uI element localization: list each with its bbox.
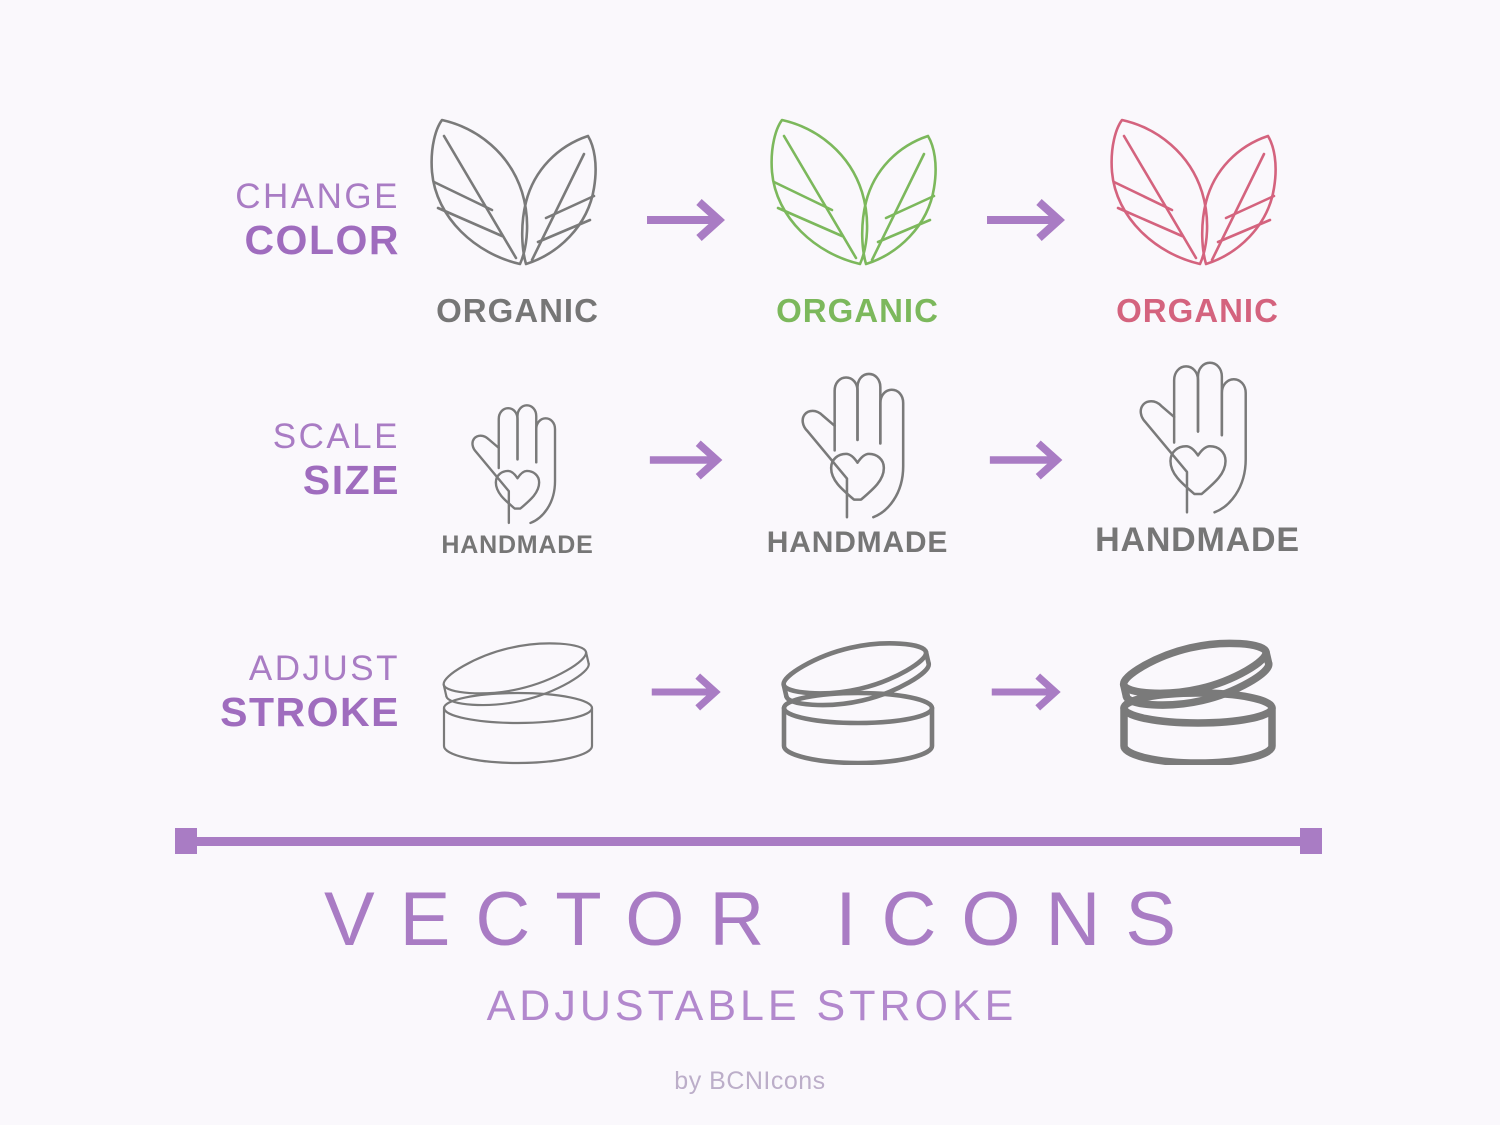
row-steps: HANDMADE	[410, 360, 1500, 560]
row-steps	[410, 612, 1500, 772]
icon-step-leaf-pink[interactable]: ORGANIC	[1090, 110, 1305, 330]
cosmetic-jar-icon	[423, 620, 613, 765]
leaf-icon	[758, 114, 958, 286]
byline: by BCNIcons	[0, 1067, 1500, 1096]
icon-step-hand-medium[interactable]: HANDMADE	[750, 360, 965, 560]
row-label-top: ADJUST	[0, 651, 400, 686]
leaf-icon	[1098, 114, 1298, 286]
arrow-right-icon	[990, 670, 1066, 714]
poster-canvas: CHANGE COLOR ORGA	[0, 0, 1500, 1125]
arrow-1	[625, 110, 750, 330]
page-subtitle: ADJUSTABLE STROKE	[4, 982, 1500, 1031]
icon-caption: ORGANIC	[436, 292, 599, 330]
arrow-right-icon	[648, 437, 728, 483]
arrow-1	[625, 360, 750, 560]
row-label-top: SCALE	[0, 419, 400, 454]
cosmetic-jar-icon	[1103, 620, 1293, 765]
arrow-2	[965, 360, 1090, 560]
icon-caption: ORGANIC	[776, 292, 939, 330]
footer: VECTOR ICONS ADJUSTABLE STROKE by BCNIco…	[0, 880, 1500, 1096]
arrow-right-icon	[650, 670, 726, 714]
icon-caption: HANDMADE	[767, 526, 948, 560]
arrow-right-icon	[985, 196, 1071, 244]
divider-line	[187, 837, 1310, 846]
arrow-2	[965, 612, 1090, 772]
row-label-change-color: CHANGE COLOR	[0, 179, 410, 261]
arrow-right-icon	[645, 196, 731, 244]
arrow-right-icon	[988, 437, 1068, 483]
row-label-bottom: COLOR	[0, 220, 400, 261]
divider-bar	[175, 828, 1322, 854]
icon-step-hand-small[interactable]: HANDMADE	[410, 360, 625, 560]
arrow-1	[625, 612, 750, 772]
icon-step-leaf-gray[interactable]: ORGANIC	[410, 110, 625, 330]
hand-heart-icon	[796, 371, 919, 521]
page-title: VECTOR ICONS	[25, 880, 1500, 960]
icon-caption: ORGANIC	[1116, 292, 1279, 330]
icon-caption: HANDMADE	[1095, 521, 1300, 560]
cosmetic-jar-icon	[763, 620, 953, 765]
row-label-bottom: SIZE	[0, 460, 400, 501]
icon-step-jar-thick[interactable]	[1090, 612, 1305, 772]
row-adjust-stroke: ADJUST STROKE	[0, 612, 1500, 772]
leaf-icon	[418, 114, 618, 286]
hand-heart-icon	[467, 403, 568, 526]
divider-cap-right	[1300, 828, 1322, 854]
icon-step-jar-thin[interactable]	[410, 612, 625, 772]
row-change-color: CHANGE COLOR ORGA	[0, 110, 1500, 330]
row-label-adjust-stroke: ADJUST STROKE	[0, 651, 410, 733]
icon-step-leaf-green[interactable]: ORGANIC	[750, 110, 965, 330]
icon-step-hand-large[interactable]: HANDMADE	[1090, 360, 1305, 560]
row-label-bottom: STROKE	[0, 692, 400, 733]
row-label-top: CHANGE	[0, 179, 400, 214]
row-label-scale-size: SCALE SIZE	[0, 419, 410, 501]
row-steps: ORGANIC	[410, 110, 1500, 330]
row-scale-size: SCALE SIZE HANDMADE	[0, 360, 1500, 560]
icon-step-jar-medium[interactable]	[750, 612, 965, 772]
hand-heart-icon	[1128, 360, 1268, 516]
arrow-2	[965, 110, 1090, 330]
icon-caption: HANDMADE	[441, 531, 593, 560]
